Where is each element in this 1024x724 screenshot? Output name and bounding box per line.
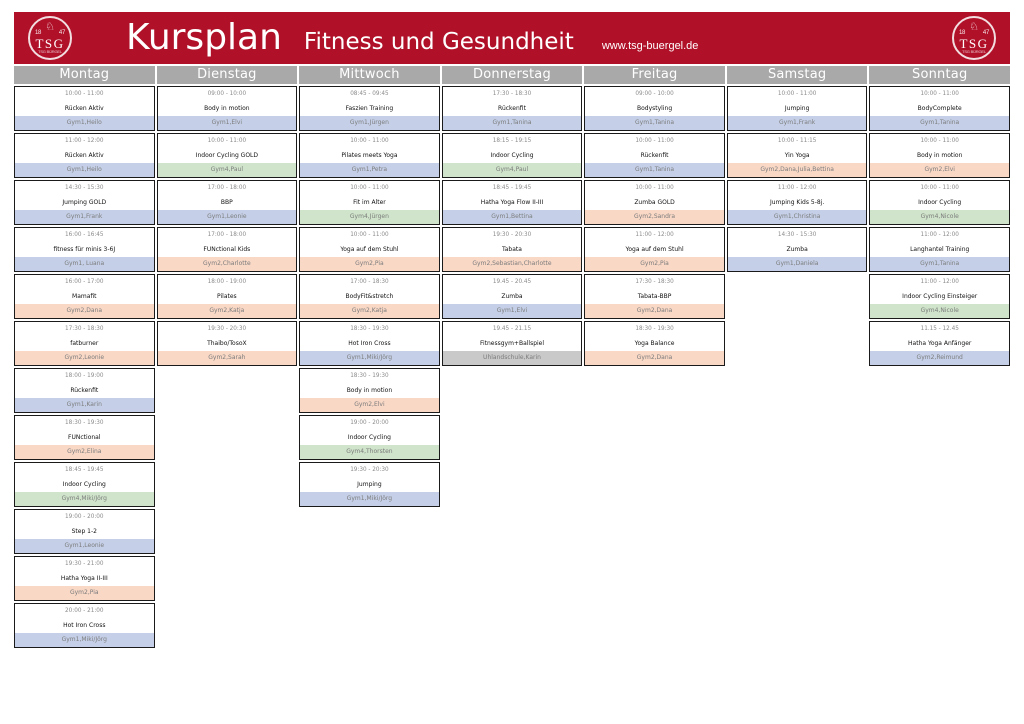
class-location-trainer: Gym2,Sandra: [585, 210, 724, 224]
class-list: 08:45 - 09:45Faszien TrainingGym1,Jürgen…: [299, 86, 440, 507]
day-header-donnerstag: Donnerstag: [442, 66, 583, 84]
class-location-trainer: Gym1,Tanina: [443, 116, 582, 130]
page-subtitle: Fitness und Gesundheit: [304, 31, 574, 54]
class-name: Yin Yoga: [728, 148, 867, 163]
class-time: 19:30 - 20:30: [158, 322, 297, 336]
class-time: 10:00 - 11:00: [300, 134, 439, 148]
class-cell[interactable]: 19:00 - 20:00Step 1-2Gym1,Leonie: [14, 509, 155, 554]
class-time: 10:00 - 11:00: [158, 134, 297, 148]
class-list: 09:00 - 10:00Body in motionGym1,Elvi10:0…: [157, 86, 298, 366]
class-cell[interactable]: 11:00 - 12:00Langhantel TrainingGym1,Tan…: [869, 227, 1010, 272]
class-list: 09:00 - 10:00BodystylingGym1,Tanina10:00…: [584, 86, 725, 366]
class-time: 20:00 - 21:00: [15, 604, 154, 618]
class-cell[interactable]: 11.15 - 12.45Hatha Yoga AnfängerGym2,Rei…: [869, 321, 1010, 366]
class-cell[interactable]: 19.45 - 21.15Fitnessgym+BallspielUhlands…: [442, 321, 583, 366]
class-name: Jumping: [300, 477, 439, 492]
day-header-freitag: Freitag: [584, 66, 725, 84]
class-time: 10:00 - 11:00: [585, 134, 724, 148]
class-name: Tabata-BBP: [585, 289, 724, 304]
class-time: 11:00 - 12:00: [585, 228, 724, 242]
class-time: 10:00 - 11:00: [870, 181, 1009, 195]
class-location-trainer: Gym2,Katja: [300, 304, 439, 318]
class-name: Indoor Cycling: [870, 195, 1009, 210]
class-time: 19:00 - 20:00: [15, 510, 154, 524]
class-time: 11:00 - 12:00: [15, 134, 154, 148]
class-name: Zumba: [443, 289, 582, 304]
class-location-trainer: Gym2,Pia: [300, 257, 439, 271]
class-cell[interactable]: 14:30 - 15:30ZumbaGym1,Daniela: [727, 227, 868, 272]
class-location-trainer: Gym2,Dana: [585, 304, 724, 318]
class-name: Hot Iron Cross: [15, 618, 154, 633]
class-name: fitness für minis 3-6J: [15, 242, 154, 257]
class-time: 17:00 - 18:30: [300, 275, 439, 289]
class-time: 16:00 - 16:45: [15, 228, 154, 242]
class-location-trainer: Gym2,Dana: [585, 351, 724, 365]
class-time: 10:00 - 11:00: [728, 87, 867, 101]
class-location-trainer: Gym2,Katja: [158, 304, 297, 318]
logo-ribbon-text: TSG BÜRGEL: [30, 49, 70, 54]
schedule-grid: Montag10:00 - 11:00Rücken AktivGym1,Heil…: [14, 66, 1010, 648]
class-time: 09:00 - 10:00: [158, 87, 297, 101]
class-cell[interactable]: 19:30 - 20:30JumpingGym1,Miki/Jörg: [299, 462, 440, 507]
day-header-montag: Montag: [14, 66, 155, 84]
class-cell[interactable]: 10:00 - 11:00Yoga auf dem StuhlGym2,Pia: [299, 227, 440, 272]
class-location-trainer: Gym1,Christina: [728, 210, 867, 224]
class-name: Body in motion: [870, 148, 1009, 163]
class-time: 10:00 - 11:00: [870, 87, 1009, 101]
class-time: 10:00 - 11:00: [300, 181, 439, 195]
class-time: 14:30 - 15:30: [15, 181, 154, 195]
class-cell[interactable]: 10:00 - 11:15Yin YogaGym2,Dana,Julia,Bet…: [727, 133, 868, 178]
class-location-trainer: Gym1,Petra: [300, 163, 439, 177]
logo-crest-icon: ♘: [45, 22, 55, 33]
class-name: Hot Iron Cross: [300, 336, 439, 351]
class-location-trainer: Gym2,Sebastian,Charlotte: [443, 257, 582, 271]
class-cell[interactable]: 18:15 - 19:15Indoor CyclingGym4,Paul: [442, 133, 583, 178]
class-name: Faszien Training: [300, 101, 439, 116]
class-location-trainer: Gym1,Leonie: [15, 539, 154, 553]
class-location-trainer: Gym1,Miki/Jörg: [300, 492, 439, 506]
class-time: 17:30 - 18:30: [585, 275, 724, 289]
class-name: Pilates meets Yoga: [300, 148, 439, 163]
kursplan-page: ♘ 18 47 TSG TSG BÜRGEL Kursplan Fitness …: [0, 0, 1024, 724]
class-time: 09:00 - 10:00: [585, 87, 724, 101]
class-location-trainer: Gym2,Dana,Julia,Bettina: [728, 163, 867, 177]
banner-title-group: Kursplan Fitness und Gesundheit www.tsg-…: [86, 20, 938, 56]
class-cell[interactable]: 09:00 - 10:00BodystylingGym1,Tanina: [584, 86, 725, 131]
class-cell[interactable]: 10:00 - 11:00Fit im AlterGym4,Jürgen: [299, 180, 440, 225]
day-header-dienstag: Dienstag: [157, 66, 298, 84]
class-name: Jumping: [728, 101, 867, 116]
class-time: 11.15 - 12.45: [870, 322, 1009, 336]
class-time: 18:30 - 19:30: [300, 322, 439, 336]
class-cell[interactable]: 11:00 - 12:00Rücken AktivGym1,Heilo: [14, 133, 155, 178]
class-cell[interactable]: 10:00 - 11:00RückenfitGym1,Tanina: [584, 133, 725, 178]
class-cell[interactable]: 20:00 - 21:00Hot Iron CrossGym1,Miki/Jör…: [14, 603, 155, 648]
class-cell[interactable]: 18:30 - 19:30Hot Iron CrossGym1,Miki/Jör…: [299, 321, 440, 366]
class-name: Jumping Kids 5-8j.: [728, 195, 867, 210]
class-location-trainer: Gym1,Heilo: [15, 163, 154, 177]
class-location-trainer: Gym1,Elvi: [158, 116, 297, 130]
class-time: 18:30 - 19:30: [585, 322, 724, 336]
class-cell[interactable]: 11:00 - 12:00Indoor Cycling EinsteigerGy…: [869, 274, 1010, 319]
class-cell[interactable]: 17:00 - 18:00FUNctional KidsGym2,Charlot…: [157, 227, 298, 272]
class-time: 17:30 - 18:30: [443, 87, 582, 101]
class-name: Rückenfit: [443, 101, 582, 116]
class-cell[interactable]: 09:00 - 10:00Body in motionGym1,Elvi: [157, 86, 298, 131]
class-name: Fit im Alter: [300, 195, 439, 210]
logo-ribbon-text: TSG BÜRGEL: [954, 49, 994, 54]
class-time: 10:00 - 11:00: [585, 181, 724, 195]
class-location-trainer: Gym1,Miki/Jörg: [15, 633, 154, 647]
class-cell[interactable]: 18:30 - 19:30Yoga BalanceGym2,Dana: [584, 321, 725, 366]
class-location-trainer: Gym2,Dana: [15, 304, 154, 318]
class-cell[interactable]: 19:30 - 20:30TabataGym2,Sebastian,Charlo…: [442, 227, 583, 272]
class-location-trainer: Gym1,Daniela: [728, 257, 867, 271]
class-time: 11:00 - 12:00: [728, 181, 867, 195]
class-name: Langhantel Training: [870, 242, 1009, 257]
class-name: Mamafit: [15, 289, 154, 304]
class-name: Indoor Cycling: [300, 430, 439, 445]
day-column-mittwoch: Mittwoch08:45 - 09:45Faszien TrainingGym…: [299, 66, 440, 648]
class-location-trainer: Gym1,Frank: [728, 116, 867, 130]
class-time: 19:30 - 20:30: [443, 228, 582, 242]
class-name: Indoor Cycling: [443, 148, 582, 163]
class-location-trainer: Gym4,Miki/Jörg: [15, 492, 154, 506]
class-time: 18:45 - 19:45: [15, 463, 154, 477]
class-location-trainer: Gym1,Heilo: [15, 116, 154, 130]
class-name: Jumping GOLD: [15, 195, 154, 210]
class-cell[interactable]: 11:00 - 12:00Yoga auf dem StuhlGym2,Pia: [584, 227, 725, 272]
class-time: 18:00 - 19:00: [15, 369, 154, 383]
class-location-trainer: Gym2,Pia: [585, 257, 724, 271]
class-time: 19:30 - 21:00: [15, 557, 154, 571]
class-cell[interactable]: 18:45 - 19:45Hatha Yoga Flow II-IIIGym1,…: [442, 180, 583, 225]
class-location-trainer: Gym1,Tanina: [870, 257, 1009, 271]
class-name: Hatha Yoga II-III: [15, 571, 154, 586]
class-name: Pilates: [158, 289, 297, 304]
class-time: 19.45 - 21.15: [443, 322, 582, 336]
class-list: 10:00 - 11:00JumpingGym1,Frank10:00 - 11…: [727, 86, 868, 272]
class-location-trainer: Gym4,Paul: [443, 163, 582, 177]
class-name: Indoor Cycling Einsteiger: [870, 289, 1009, 304]
class-cell[interactable]: 17:30 - 18:30RückenfitGym1,Tanina: [442, 86, 583, 131]
class-cell[interactable]: 11:00 - 12:00Jumping Kids 5-8j.Gym1,Chri…: [727, 180, 868, 225]
class-location-trainer: Gym1,Tanina: [585, 163, 724, 177]
class-time: 18:30 - 19:30: [300, 369, 439, 383]
class-cell[interactable]: 14:30 - 15:30Jumping GOLDGym1,Frank: [14, 180, 155, 225]
class-cell[interactable]: 10:00 - 11:00JumpingGym1,Frank: [727, 86, 868, 131]
class-time: 10:00 - 11:00: [15, 87, 154, 101]
class-location-trainer: Gym1, Luana: [15, 257, 154, 271]
class-name: Indoor Cycling GOLD: [158, 148, 297, 163]
day-column-donnerstag: Donnerstag17:30 - 18:30RückenfitGym1,Tan…: [442, 66, 583, 648]
class-name: Hatha Yoga Anfänger: [870, 336, 1009, 351]
class-time: 14:30 - 15:30: [728, 228, 867, 242]
class-name: Zumba GOLD: [585, 195, 724, 210]
class-location-trainer: Gym1,Frank: [15, 210, 154, 224]
class-list: 10:00 - 11:00Rücken AktivGym1,Heilo11:00…: [14, 86, 155, 648]
class-time: 11:00 - 12:00: [870, 228, 1009, 242]
class-name: Bodystyling: [585, 101, 724, 116]
class-name: Body in motion: [158, 101, 297, 116]
class-location-trainer: Gym4,Thorsten: [300, 445, 439, 459]
class-location-trainer: Gym4,Nicole: [870, 210, 1009, 224]
class-time: 17:00 - 18:00: [158, 181, 297, 195]
class-time: 10:00 - 11:00: [870, 134, 1009, 148]
class-location-trainer: Gym2,Leonie: [15, 351, 154, 365]
class-time: 18:15 - 19:15: [443, 134, 582, 148]
class-cell[interactable]: 18:30 - 19:30FUNctionalGym2,Elina: [14, 415, 155, 460]
class-name: Yoga Balance: [585, 336, 724, 351]
class-location-trainer: Gym2,Elvi: [870, 163, 1009, 177]
class-location-trainer: Gym1,Tanina: [585, 116, 724, 130]
class-time: 11:00 - 12:00: [870, 275, 1009, 289]
class-name: Yoga auf dem Stuhl: [300, 242, 439, 257]
class-name: Body in motion: [300, 383, 439, 398]
class-time: 19:00 - 20:00: [300, 416, 439, 430]
class-time: 10:00 - 11:00: [300, 228, 439, 242]
class-cell[interactable]: 18:00 - 19:00RückenfitGym1,Karin: [14, 368, 155, 413]
class-name: Tabata: [443, 242, 582, 257]
website-url[interactable]: www.tsg-buergel.de: [602, 41, 699, 52]
class-time: 16:00 - 17:00: [15, 275, 154, 289]
class-location-trainer: Gym1,Miki/Jörg: [300, 351, 439, 365]
class-cell[interactable]: 17:00 - 18:00BBPGym1,Leonie: [157, 180, 298, 225]
class-cell[interactable]: 18:45 - 19:45Indoor CyclingGym4,Miki/Jör…: [14, 462, 155, 507]
logo-crest-icon: ♘: [969, 22, 979, 33]
class-name: Rücken Aktiv: [15, 101, 154, 116]
class-name: Zumba: [728, 242, 867, 257]
class-location-trainer: Gym2,Pia: [15, 586, 154, 600]
class-list: 17:30 - 18:30RückenfitGym1,Tanina18:15 -…: [442, 86, 583, 366]
header-banner: ♘ 18 47 TSG TSG BÜRGEL Kursplan Fitness …: [14, 12, 1010, 64]
class-time: 17:00 - 18:00: [158, 228, 297, 242]
class-name: Hatha Yoga Flow II-III: [443, 195, 582, 210]
class-location-trainer: Uhlandschule,Karin: [443, 351, 582, 365]
class-location-trainer: Gym1,Leonie: [158, 210, 297, 224]
class-name: Step 1-2: [15, 524, 154, 539]
class-time: 18:30 - 19:30: [15, 416, 154, 430]
class-cell[interactable]: 17:00 - 18:30BodyFit&stretchGym2,Katja: [299, 274, 440, 319]
class-location-trainer: Gym1,Elvi: [443, 304, 582, 318]
class-time: 18:45 - 19:45: [443, 181, 582, 195]
class-name: BBP: [158, 195, 297, 210]
class-time: 19.45 - 20.45: [443, 275, 582, 289]
class-location-trainer: Gym2,Elvi: [300, 398, 439, 412]
class-location-trainer: Gym2,Reimund: [870, 351, 1009, 365]
class-location-trainer: Gym1,Tanina: [870, 116, 1009, 130]
class-cell[interactable]: 18:00 - 19:00PilatesGym2,Katja: [157, 274, 298, 319]
class-cell[interactable]: 19:00 - 20:00Indoor CyclingGym4,Thorsten: [299, 415, 440, 460]
class-cell[interactable]: 18:30 - 19:30Body in motionGym2,Elvi: [299, 368, 440, 413]
day-header-sonntag: Sonntag: [869, 66, 1010, 84]
class-time: 10:00 - 11:15: [728, 134, 867, 148]
class-name: FUNctional Kids: [158, 242, 297, 257]
class-cell[interactable]: 10:00 - 11:00Pilates meets YogaGym1,Petr…: [299, 133, 440, 178]
day-header-mittwoch: Mittwoch: [299, 66, 440, 84]
class-location-trainer: Gym1,Jürgen: [300, 116, 439, 130]
class-name: Yoga auf dem Stuhl: [585, 242, 724, 257]
day-header-samstag: Samstag: [727, 66, 868, 84]
tsg-logo-right-icon: ♘ 18 47 TSG TSG BÜRGEL: [952, 16, 996, 60]
class-name: Rückenfit: [585, 148, 724, 163]
class-cell[interactable]: 08:45 - 09:45Faszien TrainingGym1,Jürgen: [299, 86, 440, 131]
class-location-trainer: Gym1,Karin: [15, 398, 154, 412]
day-column-sonntag: Sonntag10:00 - 11:00BodyCompleteGym1,Tan…: [869, 66, 1010, 648]
class-name: Rückenfit: [15, 383, 154, 398]
class-cell[interactable]: 10:00 - 11:00Indoor CyclingGym4,Nicole: [869, 180, 1010, 225]
class-name: BodyFit&stretch: [300, 289, 439, 304]
class-name: Rücken Aktiv: [15, 148, 154, 163]
class-cell[interactable]: 17:30 - 18:30fatburnerGym2,Leonie: [14, 321, 155, 366]
class-cell[interactable]: 17:30 - 18:30Tabata-BBPGym2,Dana: [584, 274, 725, 319]
day-column-freitag: Freitag09:00 - 10:00BodystylingGym1,Tani…: [584, 66, 725, 648]
class-cell[interactable]: 10:00 - 11:00Indoor Cycling GOLDGym4,Pau…: [157, 133, 298, 178]
day-column-montag: Montag10:00 - 11:00Rücken AktivGym1,Heil…: [14, 66, 155, 648]
day-column-dienstag: Dienstag09:00 - 10:00Body in motionGym1,…: [157, 66, 298, 648]
class-cell[interactable]: 10:00 - 11:00BodyCompleteGym1,Tanina: [869, 86, 1010, 131]
class-cell[interactable]: 16:00 - 16:45fitness für minis 3-6JGym1,…: [14, 227, 155, 272]
tsg-logo-left-icon: ♘ 18 47 TSG TSG BÜRGEL: [28, 16, 72, 60]
class-time: 19:30 - 20:30: [300, 463, 439, 477]
class-location-trainer: Gym1,Bettina: [443, 210, 582, 224]
class-name: Indoor Cycling: [15, 477, 154, 492]
class-cell[interactable]: 10:00 - 11:00Body in motionGym2,Elvi: [869, 133, 1010, 178]
class-cell[interactable]: 19:30 - 21:00Hatha Yoga II-IIIGym2,Pia: [14, 556, 155, 601]
class-cell[interactable]: 10:00 - 11:00Rücken AktivGym1,Heilo: [14, 86, 155, 131]
class-location-trainer: Gym4,Jürgen: [300, 210, 439, 224]
class-location-trainer: Gym2,Elina: [15, 445, 154, 459]
page-title: Kursplan: [126, 20, 282, 56]
class-location-trainer: Gym4,Nicole: [870, 304, 1009, 318]
class-cell[interactable]: 16:00 - 17:00MamafitGym2,Dana: [14, 274, 155, 319]
class-time: 17:30 - 18:30: [15, 322, 154, 336]
class-time: 08:45 - 09:45: [300, 87, 439, 101]
class-name: fatburner: [15, 336, 154, 351]
class-time: 18:00 - 19:00: [158, 275, 297, 289]
class-cell[interactable]: 10:00 - 11:00Zumba GOLDGym2,Sandra: [584, 180, 725, 225]
class-location-trainer: Gym2,Sarah: [158, 351, 297, 365]
class-cell[interactable]: 19.45 - 20.45ZumbaGym1,Elvi: [442, 274, 583, 319]
class-name: BodyComplete: [870, 101, 1009, 116]
class-cell[interactable]: 19:30 - 20:30Thaibo/TosoXGym2,Sarah: [157, 321, 298, 366]
class-name: Fitnessgym+Ballspiel: [443, 336, 582, 351]
class-list: 10:00 - 11:00BodyCompleteGym1,Tanina10:0…: [869, 86, 1010, 366]
day-column-samstag: Samstag10:00 - 11:00JumpingGym1,Frank10:…: [727, 66, 868, 648]
class-name: FUNctional: [15, 430, 154, 445]
class-name: Thaibo/TosoX: [158, 336, 297, 351]
class-location-trainer: Gym2,Charlotte: [158, 257, 297, 271]
class-location-trainer: Gym4,Paul: [158, 163, 297, 177]
